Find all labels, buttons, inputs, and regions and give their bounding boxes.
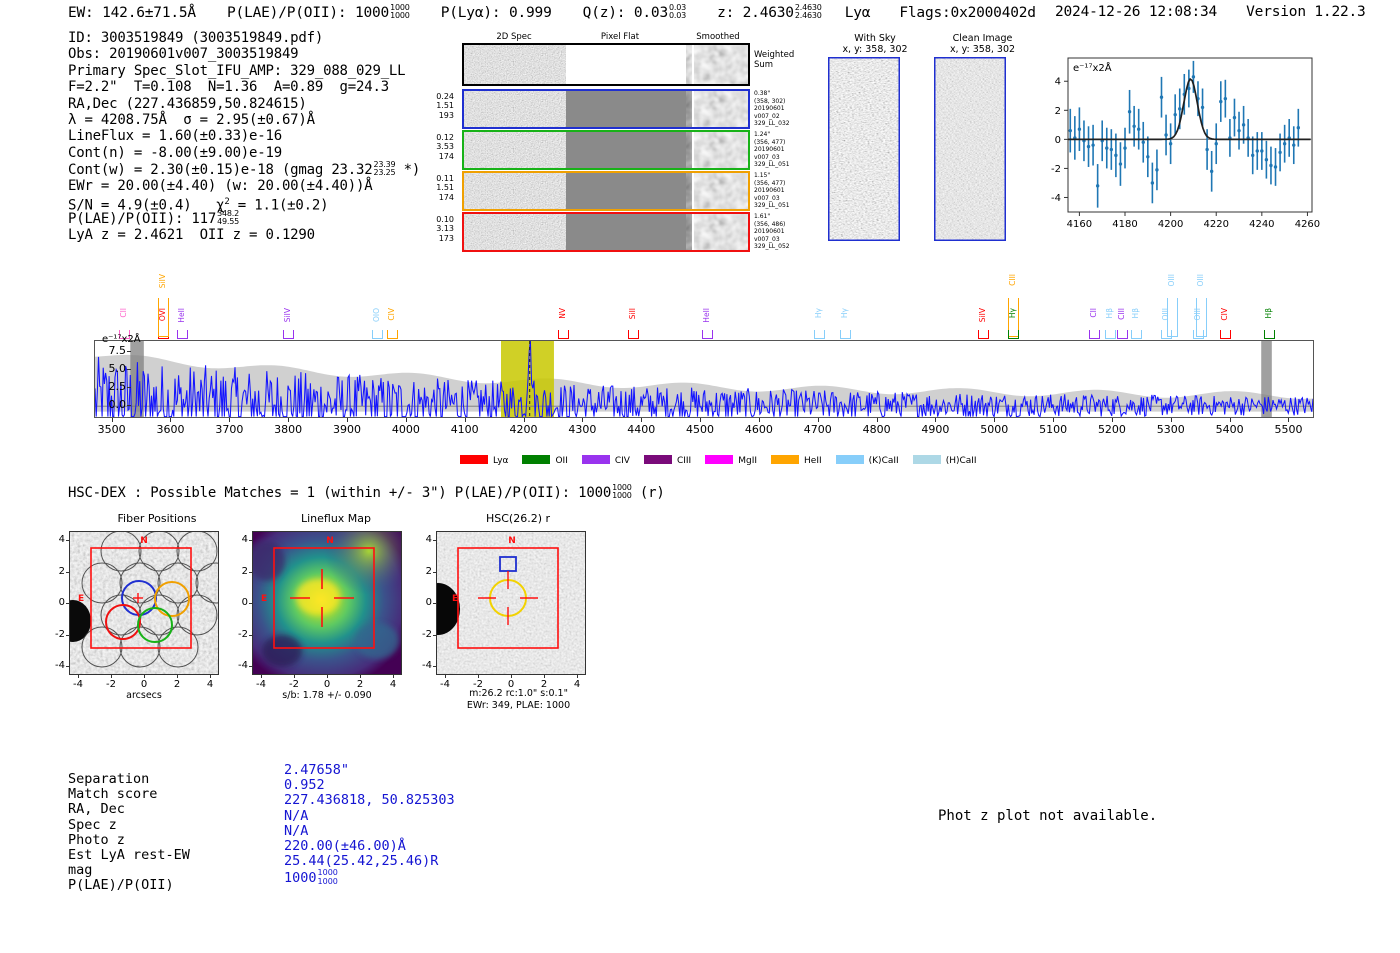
twod-row-left-stats: 0.111.51174	[428, 174, 454, 202]
header-datetime: 2024-12-26 12:08:34	[1055, 4, 1217, 20]
spectrum-x-tickmark	[994, 418, 995, 422]
legend-swatch	[522, 455, 550, 464]
hsc-r-caption: m:26.2 rc:1.0" s:0.1"EWr: 349, PLAE: 100…	[436, 688, 601, 712]
panel-x-tickmark	[478, 675, 479, 678]
info-wavelength: λ = 4208.75Å σ = 2.95(±0.67)Å	[68, 112, 420, 128]
twod-row-right-meta: 1.61"(356, 486)20190601v007_03329_LL_052	[754, 213, 814, 251]
spectrum-x-tickmark	[759, 418, 760, 422]
panel-y-tick: -4	[230, 660, 248, 671]
emission-line-zoom-svg: -4-2024416041804200422042404260e⁻¹⁷x2Å	[1034, 48, 1320, 240]
svg-text:4200: 4200	[1158, 219, 1183, 230]
spectrum-y-tick: 7.5	[92, 344, 126, 357]
header-plae-label: P(LAE)/P(OII): 1000	[227, 5, 389, 21]
twod-row-right-meta: 1.24"(356, 477)20190601v007_03329_LL_051	[754, 131, 814, 169]
spectrum-x-tickmark	[818, 418, 819, 422]
twod-row-image	[464, 173, 748, 209]
spectrum-line-label: CIV	[387, 308, 396, 321]
twod-row-left-stats: 0.103.13173	[428, 215, 454, 243]
legend-item: MgII	[705, 455, 757, 466]
header-summary-line: EW: 142.6±71.5Å P(LAE)/P(OII): 100010001…	[68, 4, 1036, 21]
spectrum-line-bracket	[814, 330, 825, 339]
legend-label: (K)CaII	[869, 456, 899, 466]
spectrum-x-tickmark	[229, 418, 230, 422]
panel-y-tick: 2	[414, 566, 432, 577]
spectrum-x-tickmark	[582, 418, 583, 422]
match-row-label: Spec z	[68, 818, 117, 833]
twod-row-image	[464, 91, 748, 127]
svg-text:4160: 4160	[1067, 219, 1092, 230]
panel-y-tick: -2	[414, 629, 432, 640]
spectrum-y-tickmark	[127, 405, 131, 406]
info-ewr: EWr = 20.00(±4.40) (w: 20.00(±4.40))Å	[68, 178, 420, 194]
spectrum-line-label: CIII	[1008, 274, 1017, 286]
legend-label: MgII	[738, 456, 757, 466]
panel-x-tickmark	[294, 675, 295, 678]
info-id: ID: 3003519849 (3003519849.pdf)	[68, 30, 420, 46]
twod-row-right-meta: 0.38"(358, 302)20190601v007_02329_LL_032	[754, 90, 814, 128]
spectrum-x-tickmark	[935, 418, 936, 422]
spectrum-y-tick: 5.0	[92, 362, 126, 375]
header-timestamp-version: 2024-12-26 12:08:34 Version 1.22.3	[1055, 4, 1366, 20]
panel-y-tickmark	[433, 666, 436, 667]
match-row-label: Match score	[68, 787, 157, 802]
spectrum-line-bracket	[1117, 330, 1128, 339]
panel-x-tick: 2	[541, 679, 547, 690]
info-seeing-params: F=2.2" T=0.108 N=1.36 A=0.89 g=24.3	[68, 79, 420, 95]
cutout-clean-image-svg	[934, 57, 1006, 241]
spectrum-x-tickmark	[112, 418, 113, 422]
emission-line-zoom-plot: -4-2024416041804200422042404260e⁻¹⁷x2Å	[1034, 48, 1320, 240]
spectrum-line-label: Hβ	[1105, 308, 1114, 318]
spectrum-x-tickmark	[170, 418, 171, 422]
twod-row	[462, 171, 750, 211]
svg-text:4260: 4260	[1295, 219, 1320, 230]
panel-y-tick: -4	[414, 660, 432, 671]
svg-text:N: N	[326, 536, 334, 546]
header-version: Version 1.22.3	[1246, 4, 1365, 20]
twod-row-right-meta: 1.15"(356, 477)20190601v007_03329_LL_051	[754, 172, 814, 210]
panel-y-tickmark	[66, 540, 69, 541]
panel-y-tick: 4	[230, 534, 248, 545]
info-obs: Obs: 20190601v007_3003519849	[68, 46, 420, 62]
panel-x-tickmark	[261, 675, 262, 678]
panel-x-tickmark	[445, 675, 446, 678]
spectrum-line-bracket	[1167, 298, 1178, 337]
spectrum-y-tickmark	[127, 387, 131, 388]
spectrum-line-bracket	[283, 330, 294, 339]
panel-x-tickmark	[144, 675, 145, 678]
legend-label: CIV	[615, 456, 630, 466]
panel-y-tickmark	[66, 603, 69, 604]
svg-text:4240: 4240	[1249, 219, 1274, 230]
panel-y-tickmark	[433, 635, 436, 636]
info-sn-chi2: S/N = 4.9(±0.4) χ2 = 1.1(±0.2)	[68, 194, 420, 210]
panel-y-tick: 2	[47, 566, 65, 577]
panel-y-tickmark	[249, 635, 252, 636]
legend-swatch	[913, 455, 941, 464]
spectrum-x-tick: 4000	[392, 423, 420, 436]
spectrum-y-tickmark	[127, 369, 131, 370]
match-row-label: Photo z	[68, 833, 125, 848]
svg-text:4: 4	[1055, 77, 1061, 88]
panel-y-tickmark	[249, 540, 252, 541]
spectrum-line-bracket	[1131, 330, 1142, 339]
spectrum-line-label: HeII	[177, 308, 186, 323]
cutout-clean-title: Clean Imagex, y: 358, 302	[925, 33, 1040, 55]
panel-x-tick: -2	[106, 679, 116, 690]
spectrum-x-tick: 3800	[274, 423, 302, 436]
spectrum-line-label: Hγ	[814, 308, 823, 318]
header-line-name: Lyα	[845, 5, 871, 21]
spectrum-x-tickmark	[1112, 418, 1113, 422]
spectrum-x-tick: 5100	[1039, 423, 1067, 436]
lineflux-map-image: N E	[252, 531, 402, 675]
panel-y-tick: 4	[47, 534, 65, 545]
lineflux-map-title: Lineflux Map	[246, 512, 426, 525]
spectrum-x-tick: 4400	[627, 423, 655, 436]
legend-label: Lyα	[493, 456, 508, 466]
panel-x-tickmark	[111, 675, 112, 678]
photz-unavailable-message: Phot z plot not available.	[938, 808, 1157, 824]
spectrum-x-tickmark	[641, 418, 642, 422]
fiber-positions-image: N E	[69, 531, 219, 675]
twod-col-title-2dspec: 2D Spec	[464, 32, 564, 42]
legend-label: OII	[555, 456, 567, 466]
spectrum-svg	[95, 341, 1313, 417]
spectrum-x-tickmark	[406, 418, 407, 422]
panel-x-tick: -4	[73, 679, 83, 690]
legend-item: (H)CaII	[913, 455, 977, 466]
panel-x-tick: 2	[357, 679, 363, 690]
spectrum-x-tick: 3900	[333, 423, 361, 436]
spectrum-x-tick: 3500	[98, 423, 126, 436]
panel-x-tick: 0	[324, 679, 330, 690]
spectrum-line-label: Hγ	[1008, 308, 1017, 318]
spectrum-y-tick: 2.5	[92, 380, 126, 393]
panel-y-tickmark	[433, 603, 436, 604]
fiber-positions-caption: arcsecs	[69, 690, 219, 702]
spectrum-line-bracket	[1089, 330, 1100, 339]
twod-col-title-smoothed: Smoothed	[668, 32, 768, 42]
panel-y-tick: 0	[414, 597, 432, 608]
panel-y-tick: 2	[230, 566, 248, 577]
spectrum-line-label: Hβ	[1131, 308, 1140, 318]
panel-y-tickmark	[249, 603, 252, 604]
match-row-value: 227.436818, 50.825303	[284, 793, 455, 808]
panel-x-tickmark	[360, 675, 361, 678]
panel-y-tick: -4	[47, 660, 65, 671]
legend-item: (K)CaII	[836, 455, 899, 466]
panel-x-tick: 4	[390, 679, 396, 690]
legend-item: CIV	[582, 455, 630, 466]
panel-y-tickmark	[66, 572, 69, 573]
panel-x-tick: 4	[207, 679, 213, 690]
info-lineflux: LineFlux = 1.60(±0.33)e-16	[68, 128, 420, 144]
spectrum-line-label: NV	[558, 308, 567, 319]
panel-x-tick: -4	[440, 679, 450, 690]
spectrum-line-bracket	[558, 330, 569, 339]
header-z-label: z: 2.4630	[717, 5, 794, 21]
header-z-frac: 2.46302.4630	[795, 4, 822, 20]
spectrum-x-tick: 4100	[451, 423, 479, 436]
spectrum-line-bracket	[1264, 330, 1275, 339]
panel-x-tick: 0	[141, 679, 147, 690]
panel-x-tickmark	[511, 675, 512, 678]
panel-y-tick: 0	[230, 597, 248, 608]
panel-x-tickmark	[78, 675, 79, 678]
spectrum-x-tickmark	[465, 418, 466, 422]
spectrum-line-label: OIII	[1196, 274, 1205, 287]
spectrum-line-label: SiIV	[978, 308, 987, 322]
header-ew: EW: 142.6±71.5Å	[68, 5, 196, 21]
match-row-value: N/A	[284, 824, 308, 839]
spectrum-x-tick: 5500	[1274, 423, 1302, 436]
twod-col-title-pixelflat: Pixel Flat	[570, 32, 670, 42]
legend-swatch	[582, 455, 610, 464]
spectrum-x-tickmark	[1171, 418, 1172, 422]
header-qz-frac: 0.030.03	[669, 4, 686, 20]
spectrum-x-tick: 4700	[804, 423, 832, 436]
spectrum-line-bracket	[840, 330, 851, 339]
spectrum-line-label: SiIV	[283, 308, 292, 322]
svg-text:E: E	[78, 594, 84, 604]
spectrum-line-label: HeII	[702, 308, 711, 323]
spectrum-x-tick: 5000	[980, 423, 1008, 436]
panel-y-tickmark	[66, 666, 69, 667]
legend-swatch	[771, 455, 799, 464]
spectrum-x-tick: 3600	[156, 423, 184, 436]
spectrum-y-tickmark	[127, 351, 131, 352]
match-row-value: 2.47658"	[284, 763, 349, 778]
info-radec: RA,Dec (227.436859,50.824615)	[68, 96, 420, 112]
panel-x-tick: 0	[508, 679, 514, 690]
spectrum-x-tick: 4900	[921, 423, 949, 436]
spectrum-x-tickmark	[1230, 418, 1231, 422]
fiber-positions-title: Fiber Positions	[67, 512, 247, 525]
legend-item: OII	[522, 455, 567, 466]
legend-swatch	[460, 455, 488, 464]
info-redshifts: LyA z = 2.4621 OII z = 0.1290	[68, 227, 420, 243]
spectrum-x-tick: 4800	[863, 423, 891, 436]
hsc-r-image: N E	[436, 531, 586, 675]
legend-item: Lyα	[460, 455, 508, 466]
spectrum-x-tickmark	[1288, 418, 1289, 422]
spectrum-x-tickmark	[877, 418, 878, 422]
twod-row	[462, 89, 750, 129]
svg-text:-2: -2	[1051, 164, 1061, 175]
legend-swatch	[705, 455, 733, 464]
svg-text:4180: 4180	[1112, 219, 1137, 230]
detection-info-block: ID: 3003519849 (3003519849.pdf) Obs: 201…	[68, 30, 420, 243]
spectrum-line-label: Hγ	[840, 308, 849, 318]
header-qz-label: Q(z): 0.03	[583, 5, 668, 21]
spectrum-x-tick: 3700	[215, 423, 243, 436]
weighted-sum-noise-image	[464, 45, 748, 84]
panel-y-tick: 0	[47, 597, 65, 608]
twod-row-left-stats: 0.123.53174	[428, 133, 454, 161]
svg-text:-4: -4	[1051, 193, 1061, 204]
match-row-label: Separation	[68, 772, 149, 787]
panel-x-tickmark	[393, 675, 394, 678]
legend-swatch	[644, 455, 672, 464]
match-row-value: 0.952	[284, 778, 325, 793]
info-cont-w: Cont(w) = 2.30(±0.15)e-18 (gmag 23.3223.…	[68, 161, 420, 177]
weighted-sum-label: WeightedSum	[754, 50, 794, 70]
twod-row	[462, 130, 750, 170]
twod-row	[462, 212, 750, 252]
spectrum-x-tick: 5200	[1098, 423, 1126, 436]
spectrum-x-tick: 4200	[510, 423, 538, 436]
header-plae-frac: 10001000	[390, 4, 410, 20]
svg-text:E: E	[261, 594, 267, 604]
spectrum-line-bracket	[628, 330, 639, 339]
panel-y-tickmark	[433, 540, 436, 541]
spectrum-line-label: CIII	[1117, 308, 1126, 320]
spectrum-x-tickmark	[347, 418, 348, 422]
spectrum-x-tickmark	[288, 418, 289, 422]
svg-text:N: N	[140, 536, 148, 546]
lineflux-map-caption: s/b: 1.78 +/- 0.090	[252, 690, 402, 702]
spectrum-x-tick: 5300	[1157, 423, 1185, 436]
panel-y-tick: 4	[414, 534, 432, 545]
full-spectrum-plot: CIIOVISiIVHeIISiIVOIOCIVNVSiIIHeIIHγHγSi…	[94, 268, 1354, 448]
spectrum-x-tick: 4600	[745, 423, 773, 436]
twod-weighted-sum-row	[462, 43, 750, 86]
spectrum-axes	[94, 340, 1314, 418]
svg-text:4220: 4220	[1203, 219, 1228, 230]
info-cont-n: Cont(n) = -8.00(±9.00)e-19	[68, 145, 420, 161]
spectrum-x-tickmark	[700, 418, 701, 422]
spectrum-line-bracket	[177, 330, 188, 339]
header-flags: Flags:0x2000402d	[899, 5, 1035, 21]
match-row-label: mag	[68, 863, 92, 878]
spectrum-line-bracket	[1220, 330, 1231, 339]
panel-x-tickmark	[544, 675, 545, 678]
spectrum-line-bracket	[372, 330, 383, 339]
svg-text:E: E	[452, 594, 458, 604]
legend-item: CIII	[644, 455, 691, 466]
panel-x-tickmark	[327, 675, 328, 678]
match-row-label: P(LAE)/P(OII)	[68, 878, 174, 893]
legend-label: HeII	[804, 456, 822, 466]
panel-y-tickmark	[249, 666, 252, 667]
panel-x-tick: 4	[574, 679, 580, 690]
svg-text:e⁻¹⁷x2Å: e⁻¹⁷x2Å	[1073, 61, 1112, 74]
match-row-value: 220.00(±46.00)Å	[284, 839, 406, 854]
match-row-label: Est LyA rest-EW	[68, 848, 190, 863]
spectrum-line-bracket	[158, 298, 169, 337]
legend-swatch	[836, 455, 864, 464]
match-row-value: 25.44(25.42,25.46)R	[284, 854, 438, 869]
panel-x-tick: -4	[256, 679, 266, 690]
spectrum-y-tick: 0.0	[92, 398, 126, 411]
match-row-value: 100010001000	[284, 869, 338, 886]
hsc-dex-header: HSC-DEX : Possible Matches = 1 (within +…	[68, 484, 665, 501]
spectrum-line-label: SiIV	[158, 274, 167, 288]
twod-row-left-stats: 0.241.51193	[428, 92, 454, 120]
panel-x-tick: 2	[174, 679, 180, 690]
spectrum-line-label: OIII	[1167, 274, 1176, 287]
svg-text:0: 0	[1055, 135, 1061, 146]
header-plya: P(Lyα): 0.999	[441, 5, 552, 21]
panel-x-tickmark	[210, 675, 211, 678]
hsc-r-title: HSC(26.2) r	[428, 512, 608, 525]
spectrum-line-bracket	[1105, 330, 1116, 339]
spectrum-x-tick: 4500	[686, 423, 714, 436]
spectrum-x-tickmark	[1053, 418, 1054, 422]
cutout-with-sky-title: With Skyx, y: 358, 302	[820, 33, 930, 55]
panel-x-tickmark	[177, 675, 178, 678]
panel-y-tickmark	[433, 572, 436, 573]
spectrum-x-tick: 4300	[568, 423, 596, 436]
panel-y-tickmark	[249, 572, 252, 573]
info-primary-spec: Primary Spec_Slot_IFU_AMP: 329_088_029_L…	[68, 63, 420, 79]
cutout-with-sky-image	[828, 57, 900, 241]
match-row-label: RA, Dec	[68, 802, 125, 817]
panel-y-tick: -2	[47, 629, 65, 640]
spectrum-x-tick: 5400	[1216, 423, 1244, 436]
legend-item: HeII	[771, 455, 822, 466]
twod-row-image	[464, 214, 748, 250]
spectrum-x-tickmark	[524, 418, 525, 422]
panel-y-tick: -2	[230, 629, 248, 640]
panel-x-tick: -2	[289, 679, 299, 690]
panel-x-tick: -2	[473, 679, 483, 690]
svg-text:N: N	[508, 536, 516, 546]
spectrum-line-label: CII	[119, 308, 128, 318]
spectrum-line-label: Hβ	[1264, 308, 1273, 318]
panel-y-tickmark	[66, 635, 69, 636]
panel-x-tickmark	[577, 675, 578, 678]
svg-text:2: 2	[1055, 106, 1061, 117]
twod-row-image	[464, 132, 748, 168]
spectrum-line-label: CIV	[1220, 308, 1229, 321]
spectrum-line-label: OIO	[372, 308, 381, 322]
spectrum-line-bracket	[702, 330, 713, 339]
legend-label: CIII	[677, 456, 691, 466]
spectrum-line-bracket	[1196, 298, 1207, 337]
spectrum-legend: LyαOIICIVCIIIMgIIHeII(K)CaII(H)CaII	[460, 455, 991, 466]
legend-label: (H)CaII	[946, 456, 977, 466]
spectrum-line-label: SiII	[628, 308, 637, 319]
spectrum-line-bracket	[978, 330, 989, 339]
spectrum-line-bracket	[1008, 330, 1019, 339]
match-row-value: N/A	[284, 809, 308, 824]
spectrum-line-label: CII	[1089, 308, 1098, 318]
spectrum-line-bracket	[387, 330, 398, 339]
